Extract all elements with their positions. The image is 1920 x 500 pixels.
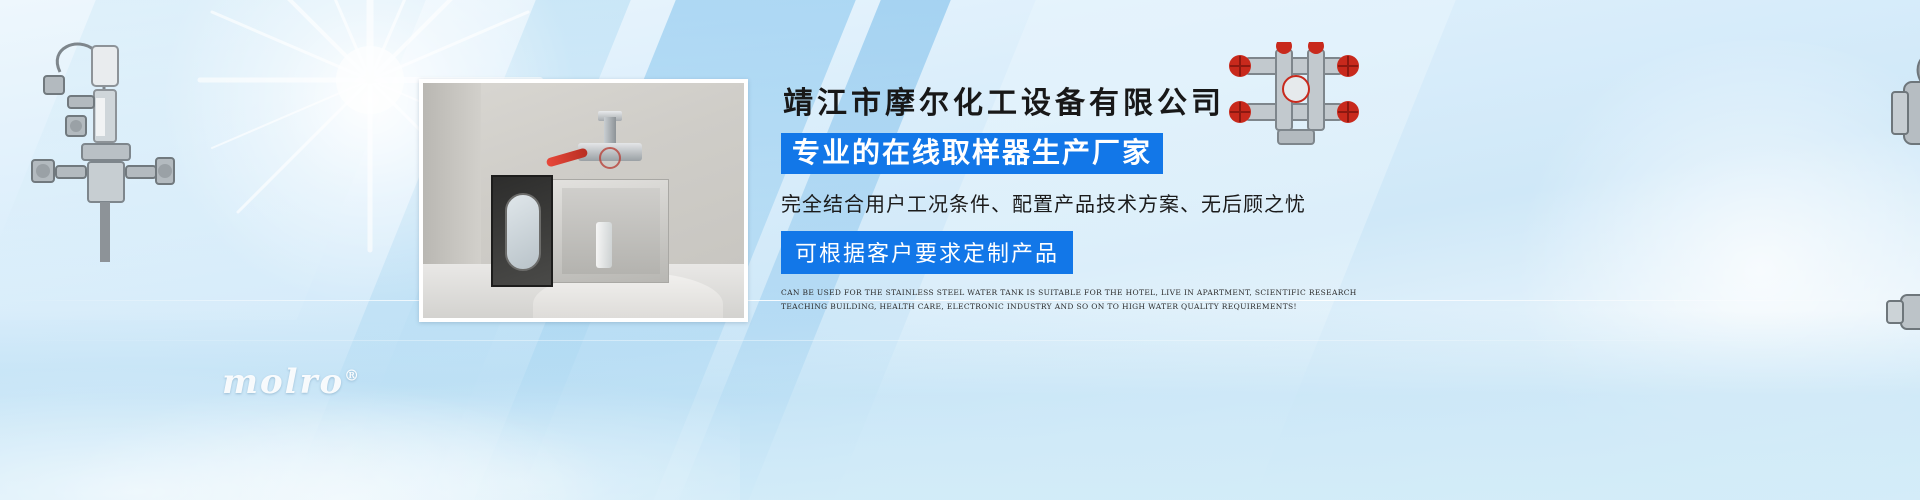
online-sampler-cabinet-photo (419, 79, 748, 322)
cabinet-interior (562, 188, 660, 274)
photo-content (423, 83, 744, 318)
door-window (505, 193, 541, 271)
value-proposition-line: 完全结合用户工况条件、配置产品技术方案、无后顾之忧 (781, 188, 1401, 217)
water-splash (0, 330, 740, 500)
cross-valve-manifold-icon (1216, 42, 1371, 152)
three-way-valve-icon (1890, 28, 1920, 233)
cabinet-door (491, 175, 553, 287)
promo-banner: 靖江市摩尔化工设备有限公司 专业的在线取样器生产厂家 完全结合用户工况条件、配置… (0, 0, 1920, 500)
customization-cta[interactable]: 可根据客户要求定制产品 (781, 231, 1073, 274)
red-lever-handle (546, 147, 589, 167)
sample-bottle (596, 222, 612, 268)
watermark-registered-mark: ® (344, 367, 361, 385)
watermark-text: molro (222, 362, 344, 402)
headline-highlight: 专业的在线取样器生产厂家 (781, 133, 1163, 174)
sampling-valve-assembly-icon (8, 20, 178, 270)
brand-watermark: molro® (222, 362, 361, 402)
sampler-cabinet-body (551, 179, 669, 283)
english-description: CAN BE USED FOR THE STAINLESS STEEL WATE… (781, 286, 1381, 314)
photo-watermark-logo (599, 147, 621, 169)
inline-sampler-valve-icon (1885, 255, 1920, 435)
